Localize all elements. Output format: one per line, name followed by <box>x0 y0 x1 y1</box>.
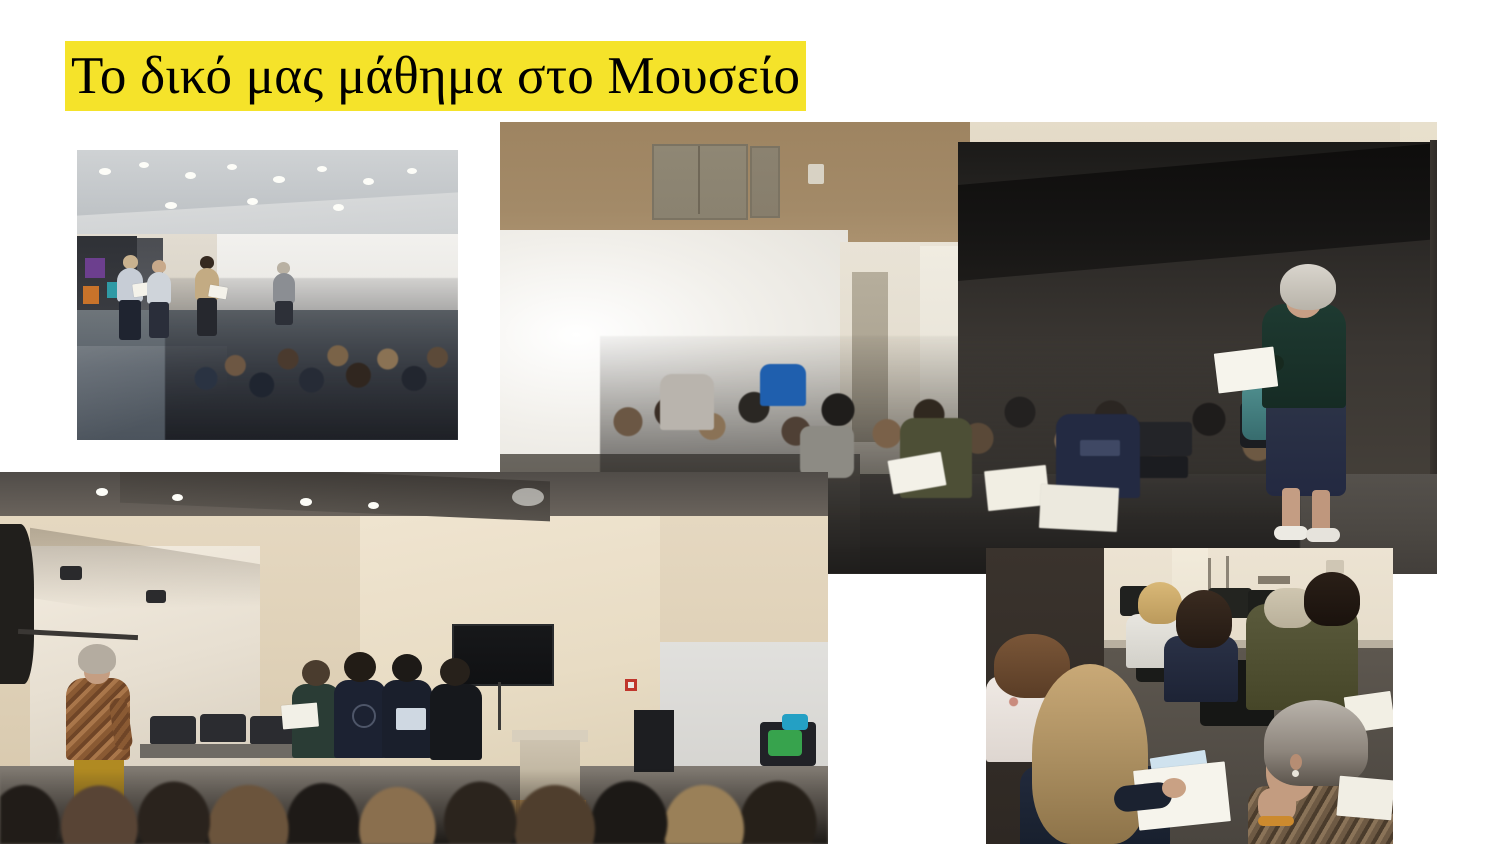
ceiling-light-icon <box>368 502 379 509</box>
photo4-shelf <box>1258 576 1290 584</box>
photo1-panel-purple-block <box>85 258 105 278</box>
ceiling-light-icon <box>139 162 149 168</box>
ceiling-light-icon <box>407 168 417 174</box>
photo3-student-head <box>392 654 422 682</box>
photo3-dark-corner <box>0 524 34 684</box>
photo3-student-head <box>344 652 376 682</box>
photo3-student-head <box>440 658 470 686</box>
page-title: Το δικό μας μάθημα στο Μουσείο <box>71 45 800 107</box>
photo4-student-dark-hair <box>1176 590 1232 648</box>
ceiling-light-icon <box>273 176 285 183</box>
photo3-empty-chair <box>150 716 196 744</box>
photo4-worksheet <box>1336 776 1393 821</box>
slide-canvas: Το δικό μας μάθημα στο Μουσείο <box>0 0 1500 844</box>
ceiling-light-icon <box>227 164 237 170</box>
track-light-icon <box>60 566 82 580</box>
ceiling-light-icon <box>99 168 111 175</box>
photo3-audience-front-row <box>0 770 828 844</box>
photo3-held-papers <box>281 702 319 729</box>
photo2-teacher-shoe <box>1306 528 1340 542</box>
ceiling-light-icon <box>247 198 258 205</box>
photo1-standing-adult <box>117 255 143 343</box>
photo3-monitor-cable <box>498 682 501 730</box>
exit-sign-inner-icon <box>628 682 634 688</box>
photo2-backpack <box>800 426 854 478</box>
photo4-woman-earring <box>1292 770 1299 777</box>
ceiling-light-icon <box>300 498 312 506</box>
photo2-teacher-hair <box>1280 264 1336 310</box>
photo3-green-cloth <box>768 730 802 756</box>
photo4-student-hand <box>1162 778 1186 798</box>
photo4-student-blonde-ponytail <box>1032 664 1148 844</box>
photo3-teal-cloth <box>782 714 808 730</box>
ceiling-light-icon <box>333 204 344 211</box>
track-light-icon <box>146 590 166 603</box>
ceiling-light-icon <box>172 494 183 501</box>
photo2-teacher-papers <box>1214 346 1278 393</box>
photo4-stand-pole <box>1226 556 1229 590</box>
ceiling-light-icon <box>96 488 108 496</box>
photo2-teacher-shoe <box>1274 526 1308 540</box>
photo3-student-black-top <box>430 684 482 760</box>
photo1-standing-student <box>195 256 219 338</box>
photo1-standing-adult <box>273 262 295 326</box>
photo4-woman-grey-hair <box>1264 700 1368 786</box>
photo4-student-dark-hair <box>1304 572 1360 626</box>
photo2-backdrop-right-edge <box>1430 140 1437 484</box>
photo-museum-hall-wide <box>77 150 458 440</box>
photo3-adult-head <box>302 660 330 686</box>
photo2-teacher-skirt <box>1266 400 1346 496</box>
photo3-hoodie-logo <box>352 704 376 728</box>
ceiling-light-icon <box>363 178 374 185</box>
photo1-panel-orange-block <box>83 286 99 304</box>
photo4-stand-pole <box>1208 558 1211 590</box>
photo2-wall-sensor <box>808 164 824 184</box>
ceiling-light-icon <box>165 202 177 209</box>
photo2-student-blue-shirt <box>760 364 806 406</box>
photo2-upper-door <box>652 144 748 220</box>
photo3-tablet-screen <box>396 708 426 730</box>
ceiling-light-icon <box>185 172 196 179</box>
photo-gallery-presentation <box>0 472 828 844</box>
photo3-speaker <box>634 710 674 772</box>
photo1-standing-adult <box>147 260 171 340</box>
photo-students-writing-closeup <box>986 548 1393 844</box>
photo3-teacher-hair <box>78 644 116 674</box>
photo2-student-grey-jacket <box>660 374 714 430</box>
photo2-open-booklet <box>1039 484 1119 532</box>
slide-title-highlight: Το δικό μας μάθημα στο Μουσείο <box>65 41 806 111</box>
photo2-hoodie-logo <box>1080 440 1120 456</box>
ceiling-light-icon <box>512 488 544 506</box>
photo2-upper-door-narrow <box>750 146 780 218</box>
photo3-empty-chair <box>200 714 246 742</box>
photo2-door-divider <box>698 146 700 214</box>
photo4-woman-ear <box>1290 754 1302 770</box>
ceiling-light-icon <box>317 166 327 172</box>
photo4-woman-bracelet <box>1258 816 1294 826</box>
